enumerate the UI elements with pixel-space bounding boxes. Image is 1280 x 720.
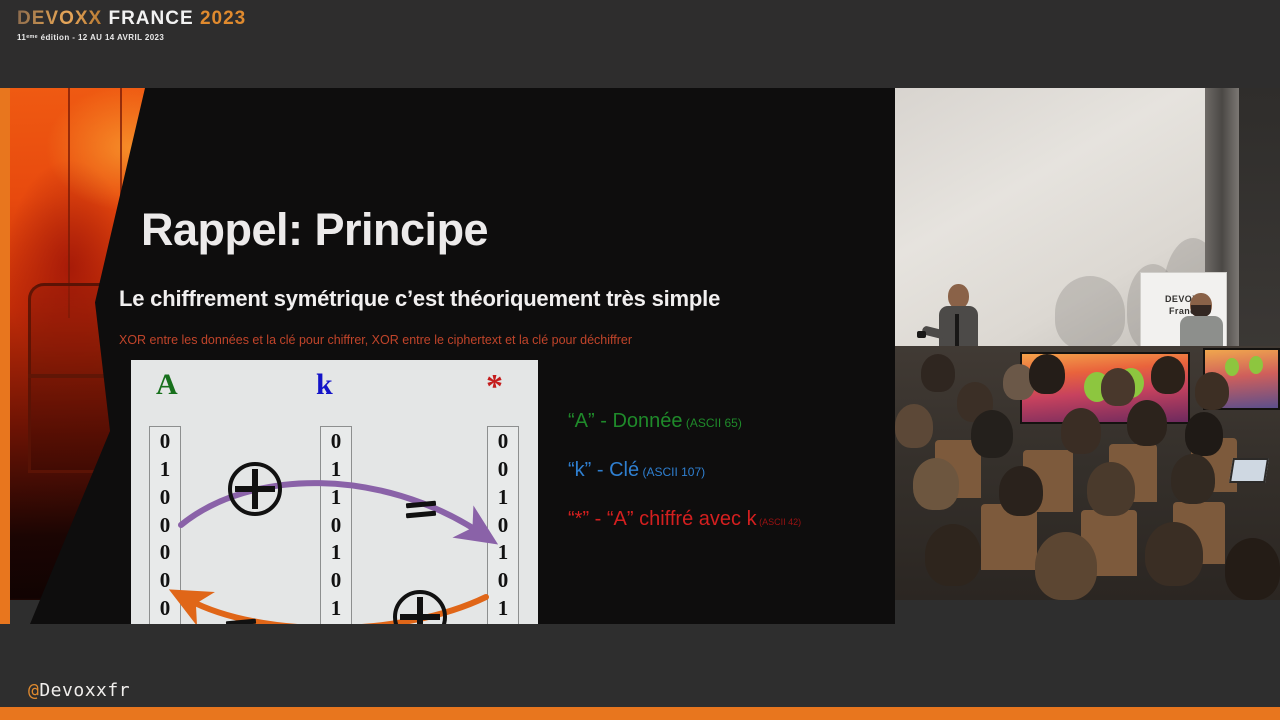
legend-ascii-code: (ASCII 107) (639, 465, 705, 479)
equals-sign-decrypt-icon (226, 618, 256, 624)
slide-accent-rail (0, 88, 10, 624)
slide-content: Rappel: Principe Le chiffrement symétriq… (0, 88, 895, 624)
audience-laptop (1229, 458, 1269, 483)
logo-subtitle: 11ᵉᵐᵉ édition - 12 AU 14 AVRIL 2023 (17, 33, 246, 43)
audience-head (1225, 538, 1280, 600)
audience-head (1061, 408, 1101, 454)
audience-head (971, 410, 1013, 458)
presentation-slide: Rappel: Principe Le chiffrement symétriq… (0, 88, 895, 624)
audience-head (1035, 532, 1097, 600)
audience-head (1101, 368, 1135, 406)
audience-head (1195, 372, 1229, 410)
devoxx-logo: DEVOXX FRANCE 2023 11ᵉᵐᵉ édition - 12 AU… (17, 9, 246, 43)
legend-term: “A” chiffré avec k (607, 508, 757, 530)
audience-head (1145, 522, 1203, 586)
handle-text: Devoxxfr (39, 680, 130, 701)
broadcast-header: DEVOXX FRANCE 2023 11ᵉᵐᵉ édition - 12 AU… (0, 0, 1280, 88)
audience-head (999, 466, 1043, 516)
speaker-video-feed: DEVOXX France DEVOXX FRANCE 2023 (895, 88, 1280, 600)
at-symbol-icon: @ (28, 680, 39, 701)
legend-item-cipher: “*” - “A” chiffré avec k (ASCII 42) (568, 508, 878, 531)
xor-flow-arrows (131, 360, 538, 624)
legend-ascii-code: (ASCII 65) (683, 416, 742, 430)
legend-item-data: “A” - Donnée (ASCII 65) (568, 410, 878, 433)
audience-area (895, 346, 1280, 600)
audience-head (1151, 356, 1185, 394)
audience-head (895, 404, 933, 448)
equals-sign-encrypt-icon (406, 500, 436, 526)
presentation-clicker (917, 331, 926, 338)
legend-term: Donnée (612, 410, 682, 432)
audience-head (1087, 462, 1135, 516)
xor-diagram-panel: A k * 0 1 0 0 0 0 0 1 0 1 1 0 (131, 360, 538, 624)
audience-head (1171, 454, 1215, 504)
logo-france-text: FRANCE (108, 8, 193, 29)
slide-subtitle: Le chiffrement symétrique c’est théoriqu… (119, 286, 720, 312)
screen-capture: DEVOXX FRANCE 2023 11ᵉᵐᵉ édition - 12 AU… (0, 0, 1280, 720)
slide-note: XOR entre les données et la clé pour chi… (119, 333, 632, 347)
audience-head (913, 458, 959, 510)
legend-item-key: “k” - Clé (ASCII 107) (568, 459, 878, 482)
social-handle: @Devoxxfr (28, 680, 130, 701)
legend-quoted-symbol: “k” - (568, 459, 609, 481)
footer-accent-bar (0, 707, 1280, 720)
stage-right-wall (1239, 88, 1280, 350)
legend-term: Clé (609, 459, 639, 481)
audience-head (1029, 354, 1065, 394)
legend-quoted-symbol: “*” - (568, 508, 607, 530)
xor-operator-encrypt-icon (228, 462, 282, 516)
audience-head (1127, 400, 1167, 446)
audience-head (921, 354, 955, 392)
audience-head (925, 524, 981, 586)
diagram-legend: “A” - Donnée (ASCII 65) “k” - Clé (ASCII… (568, 410, 878, 557)
legend-quoted-symbol: “A” - (568, 410, 612, 432)
logo-devoxx-text: DEVOXX (17, 8, 102, 29)
logo-year-text: 2023 (200, 8, 246, 29)
slide-title: Rappel: Principe (141, 204, 488, 256)
audience-head (1185, 412, 1223, 456)
legend-ascii-code: (ASCII 42) (757, 517, 802, 527)
